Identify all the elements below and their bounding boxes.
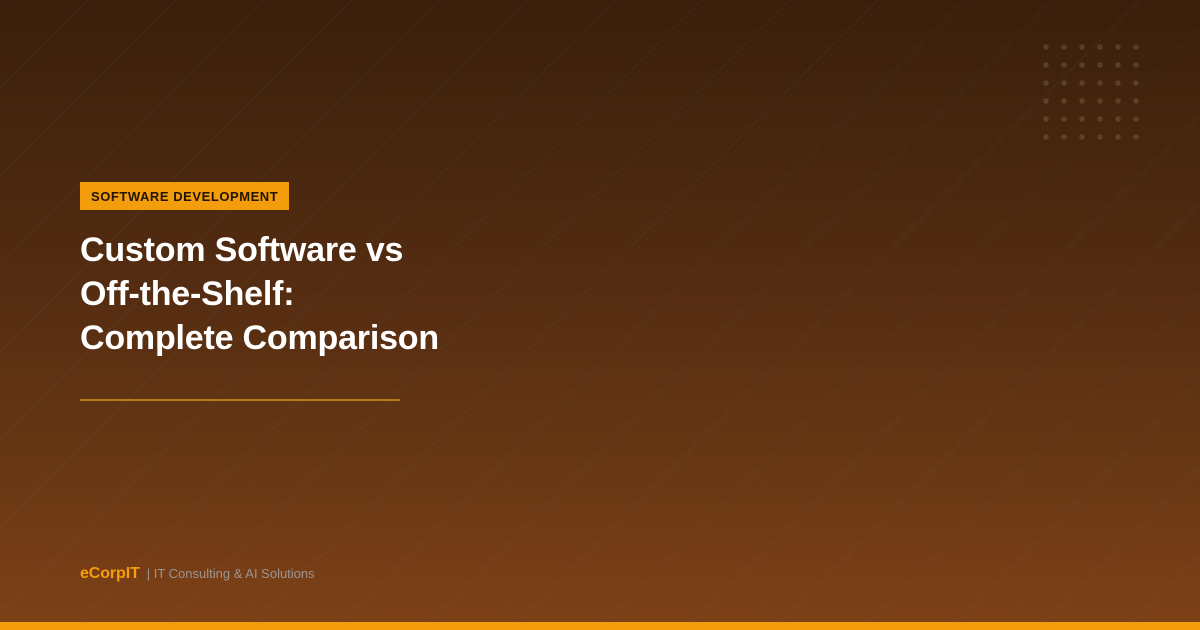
divider-rule: [80, 399, 400, 401]
bottom-accent-bar: [0, 622, 1200, 630]
category-badge: SOFTWARE DEVELOPMENT: [80, 182, 289, 210]
title-line-3: Complete Comparison: [80, 316, 640, 360]
page-title: Custom Software vs Off-the-Shelf: Comple…: [80, 228, 640, 360]
brand-name: eCorpIT: [80, 565, 140, 583]
title-line-1: Custom Software vs: [80, 228, 640, 272]
brand-tagline: | IT Consulting & AI Solutions: [147, 566, 315, 581]
title-line-2: Off-the-Shelf:: [80, 272, 640, 316]
dot-grid-decoration: [1043, 44, 1147, 148]
card-content: SOFTWARE DEVELOPMENT Custom Software vs …: [80, 0, 780, 630]
og-card: SOFTWARE DEVELOPMENT Custom Software vs …: [0, 0, 1200, 630]
brand-footer: eCorpIT | IT Consulting & AI Solutions: [80, 565, 315, 583]
